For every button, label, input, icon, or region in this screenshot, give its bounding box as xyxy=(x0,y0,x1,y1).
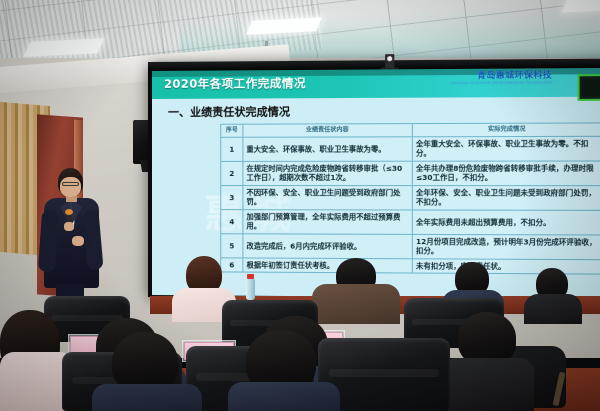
performance-table: 序号 业绩责任状内容 实际完成情况 1 重大安全、环保事故、职业卫生事故为零。 … xyxy=(220,122,600,275)
presenter-hand-lower xyxy=(72,236,84,246)
table-header-row: 序号 业绩责任状内容 实际完成情况 xyxy=(221,123,600,137)
presenter-face xyxy=(60,177,81,197)
row-content: 加强部门预算管理，全年实际费用不超过预算费用。 xyxy=(243,210,412,235)
presenter-hand-upper xyxy=(64,222,74,231)
table-row: 1 重大安全、环保事故、职业卫生事故为零。 全年重大安全、环保事故、职业卫生事故… xyxy=(221,136,600,161)
glasses-icon xyxy=(62,182,79,186)
conference-room-photo: 2020年各项工作完成情况 青岛惠城环保科技 QINGDAO HUICHENG … xyxy=(0,0,600,411)
row-no: 6 xyxy=(221,258,243,273)
ceiling-light-panel xyxy=(562,0,600,13)
company-name-en: QINGDAO HUICHENG ENVIRONMENTAL TECHNOLOG… xyxy=(451,82,552,86)
water-bottle xyxy=(246,278,255,300)
row-no: 3 xyxy=(221,185,243,209)
row-result: 全年实际费用未超出预算费用，不扣分。 xyxy=(412,210,600,235)
chair-seam xyxy=(329,369,440,378)
row-no: 1 xyxy=(221,137,243,161)
attendee-shoulders-front xyxy=(228,382,340,411)
attendee-shoulders xyxy=(524,294,582,324)
row-content: 改造完成后，6月内完成环评验收。 xyxy=(243,234,412,259)
row-result: 全年共办理8份危险废物跨省转移审批手续，办理时限≤30工作日，不扣分。 xyxy=(412,161,600,186)
row-result: 全年环保、安全、职业卫生问题未受到政府部门处罚，不扣分。 xyxy=(412,186,600,211)
row-no: 4 xyxy=(221,210,243,234)
attendee-shoulders xyxy=(312,284,400,324)
row-result: 12月份项目完成改造，预计明年3月份完成环评验收，扣分。 xyxy=(412,234,600,259)
logo-mark-inner xyxy=(583,79,600,96)
row-content: 不因环保、安全、职业卫生问题受到政府部门处罚。 xyxy=(243,185,412,209)
attendee-shoulders xyxy=(442,358,534,411)
row-content: 在规定时间内完成危险废物跨省转移审批（≤30工作日），超期次数不超过1次。 xyxy=(243,161,412,185)
row-result: 全年重大安全、环保事故、职业卫生事故为零。不扣分。 xyxy=(412,136,600,161)
row-content: 重大安全、环保事故、职业卫生事故为零。 xyxy=(243,137,412,162)
table-row: 3 不因环保、安全、职业卫生问题受到政府部门处罚。 全年环保、安全、职业卫生问题… xyxy=(221,185,600,210)
webcam-lens-icon xyxy=(387,56,392,61)
logo-mark-icon xyxy=(578,74,600,101)
table-header-no: 序号 xyxy=(221,124,243,137)
table-header-result: 实际完成情况 xyxy=(412,123,600,137)
row-no: 2 xyxy=(221,161,243,185)
microphone-head-icon xyxy=(65,209,73,215)
table-header-content: 业绩责任状内容 xyxy=(243,124,412,138)
table-row: 4 加强部门预算管理，全年实际费用不超过预算费用。 全年实际费用未超出预算费用，… xyxy=(221,210,600,235)
bottle-cap xyxy=(247,274,254,279)
row-no: 5 xyxy=(221,234,243,258)
presenter xyxy=(38,168,104,298)
company-name-cn: 青岛惠城环保科技 xyxy=(451,71,552,80)
slide-title: 2020年各项工作完成情况 xyxy=(164,75,306,92)
table-row: 2 在规定时间内完成危险废物跨省转移审批（≤30工作日），超期次数不超过1次。 … xyxy=(221,161,600,186)
table-row: 5 改造完成后，6月内完成环评验收。 12月份项目完成改造，预计明年3月份完成环… xyxy=(221,234,600,260)
row-content: 根据年初签订责任状考核。 xyxy=(243,258,412,274)
row-result: 未有扣分项，完成责任状。 xyxy=(412,259,600,275)
slide-section-heading: 一、业绩责任状完成情况 xyxy=(168,103,290,120)
attendee-shoulders-front xyxy=(92,384,202,411)
company-logo: 青岛惠城环保科技 QINGDAO HUICHENG ENVIRONMENTAL … xyxy=(451,71,552,85)
